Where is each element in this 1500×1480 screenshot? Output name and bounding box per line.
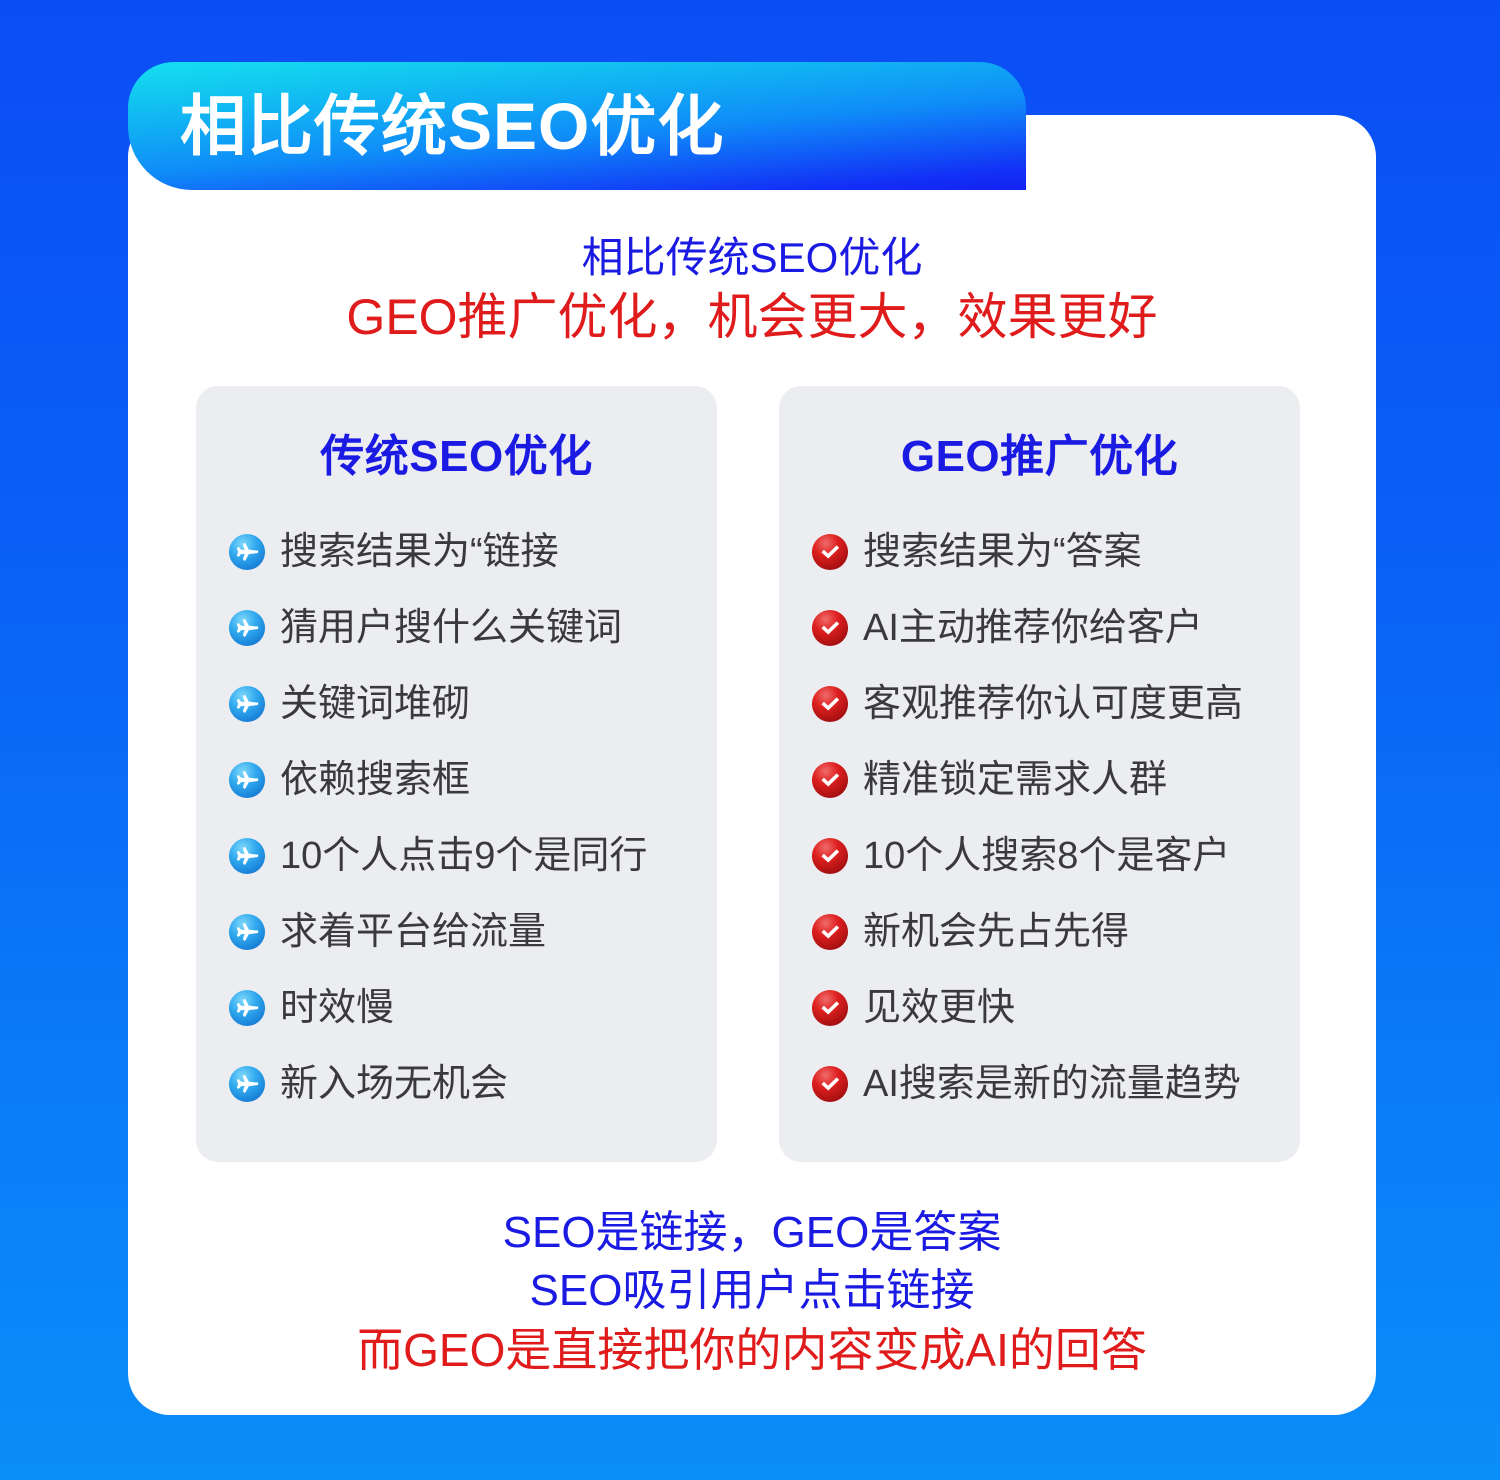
- list-item: 猜用户搜什么关键词: [228, 590, 717, 666]
- list-item: 10个人点击9个是同行: [228, 818, 717, 894]
- list-item-label: 猜用户搜什么关键词: [280, 609, 622, 647]
- list-item-label: 10个人点击9个是同行: [280, 837, 647, 875]
- comparison-columns: 传统SEO优化 搜索结果为“链接 猜用户搜什么关键词 关键词堆砌: [196, 386, 1300, 1162]
- list-item: 客观推荐你认可度更高: [811, 666, 1300, 742]
- list-item-label: 搜索结果为“链接: [280, 533, 559, 571]
- check-circle-icon: [811, 609, 849, 647]
- list-item: 10个人搜索8个是客户: [811, 818, 1300, 894]
- airplane-icon: [228, 837, 266, 875]
- list-item: 依赖搜索框: [228, 742, 717, 818]
- list-item-label: 求着平台给流量: [280, 913, 546, 951]
- footer-line-2: SEO吸引用户点击链接: [128, 1262, 1376, 1320]
- list-item-label: 精准锁定需求人群: [863, 761, 1167, 799]
- subtitle-line-red: GEO推广优化，机会更大，效果更好: [128, 285, 1376, 350]
- list-item: 搜索结果为“答案: [811, 514, 1300, 590]
- list-item: 新机会先占先得: [811, 894, 1300, 970]
- footer-line-3: 而GEO是直接把你的内容变成AI的回答: [128, 1320, 1376, 1381]
- panel-traditional-seo: 传统SEO优化 搜索结果为“链接 猜用户搜什么关键词 关键词堆砌: [196, 386, 717, 1162]
- list-item-label: 见效更快: [863, 989, 1015, 1027]
- check-circle-icon: [811, 1065, 849, 1103]
- list-item: 精准锁定需求人群: [811, 742, 1300, 818]
- check-circle-icon: [811, 837, 849, 875]
- footer-line-1: SEO是链接，GEO是答案: [128, 1204, 1376, 1262]
- subtitle-block: 相比传统SEO优化 GEO推广优化，机会更大，效果更好: [128, 232, 1376, 350]
- footer-block: SEO是链接，GEO是答案 SEO吸引用户点击链接 而GEO是直接把你的内容变成…: [128, 1204, 1376, 1381]
- list-item-label: 依赖搜索框: [280, 761, 470, 799]
- list-item: 见效更快: [811, 970, 1300, 1046]
- check-circle-icon: [811, 913, 849, 951]
- airplane-icon: [228, 533, 266, 571]
- list-item-label: 新机会先占先得: [863, 913, 1129, 951]
- panel-geo-promotion: GEO推广优化 搜索结果为“答案 AI主动推荐你给客户 客观推荐你认可度更高: [779, 386, 1300, 1162]
- list-item: AI主动推荐你给客户: [811, 590, 1300, 666]
- header-banner: 相比传统SEO优化: [128, 62, 1026, 190]
- panel-title-geo-promotion: GEO推广优化: [779, 420, 1300, 484]
- check-circle-icon: [811, 761, 849, 799]
- list-item: 关键词堆砌: [228, 666, 717, 742]
- list-item: 求着平台给流量: [228, 894, 717, 970]
- list-item: 新入场无机会: [228, 1046, 717, 1122]
- page-title: 相比传统SEO优化: [180, 93, 724, 159]
- panel-title-traditional-seo: 传统SEO优化: [196, 420, 717, 484]
- check-circle-icon: [811, 685, 849, 723]
- subtitle-line-blue: 相比传统SEO优化: [128, 232, 1376, 285]
- list-item-label: 新入场无机会: [280, 1065, 508, 1103]
- list-item-label: 时效慢: [280, 989, 394, 1027]
- list-item-label: 10个人搜索8个是客户: [863, 837, 1230, 875]
- list-item-label: 搜索结果为“答案: [863, 533, 1142, 571]
- airplane-icon: [228, 609, 266, 647]
- check-circle-icon: [811, 533, 849, 571]
- list-traditional-seo: 搜索结果为“链接 猜用户搜什么关键词 关键词堆砌 依赖搜索框: [196, 514, 717, 1122]
- list-item: AI搜索是新的流量趋势: [811, 1046, 1300, 1122]
- list-item: 时效慢: [228, 970, 717, 1046]
- airplane-icon: [228, 913, 266, 951]
- list-item-label: AI搜索是新的流量趋势: [863, 1065, 1241, 1103]
- airplane-icon: [228, 761, 266, 799]
- list-geo-promotion: 搜索结果为“答案 AI主动推荐你给客户 客观推荐你认可度更高 精准锁定需求人群: [779, 514, 1300, 1122]
- list-item: 搜索结果为“链接: [228, 514, 717, 590]
- airplane-icon: [228, 1065, 266, 1103]
- airplane-icon: [228, 989, 266, 1027]
- list-item-label: AI主动推荐你给客户: [863, 609, 1203, 647]
- airplane-icon: [228, 685, 266, 723]
- check-circle-icon: [811, 989, 849, 1027]
- list-item-label: 关键词堆砌: [280, 685, 470, 723]
- list-item-label: 客观推荐你认可度更高: [863, 685, 1243, 723]
